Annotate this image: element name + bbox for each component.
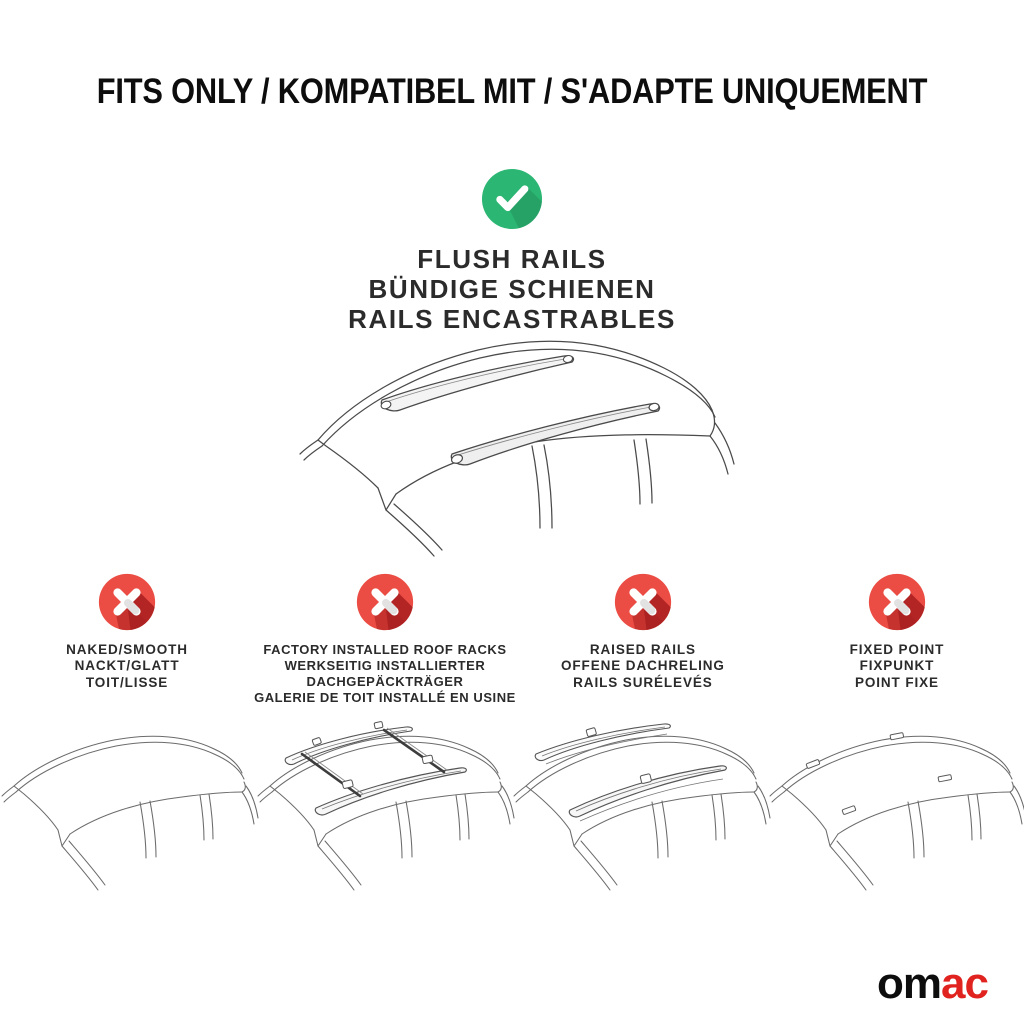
- roof-type-illustrations: [0, 724, 1024, 909]
- option-label-line-1: FIXED POINT: [850, 642, 945, 658]
- option-label-line-3: DACHGEPÄCKTRÄGER: [254, 674, 516, 690]
- cross-icon: [613, 572, 673, 632]
- compatible-label: FLUSH RAILS BÜNDIGE SCHIENEN RAILS ENCAS…: [0, 244, 1024, 334]
- cross-icon: [867, 572, 927, 632]
- option-label-line-1: NAKED/SMOOTH: [66, 642, 188, 658]
- logo-text-ac: ac: [941, 959, 988, 1008]
- option-label-line-2: OFFENE DACHRELING: [561, 658, 725, 674]
- option-naked-smooth: NAKED/SMOOTH NACKT/GLATT TOIT/LISSE: [0, 572, 254, 705]
- incompatible-options-grid: NAKED/SMOOTH NACKT/GLATT TOIT/LISSE: [0, 572, 1024, 705]
- option-label-line-3: RAILS SURÉLEVÉS: [561, 675, 725, 691]
- omac-logo: omac: [877, 962, 988, 1006]
- compatible-label-line-2: BÜNDIGE SCHIENEN: [0, 274, 1024, 304]
- option-label-line-3: TOIT/LISSE: [66, 675, 188, 691]
- option-label-line-3: POINT FIXE: [850, 675, 945, 691]
- option-label: RAISED RAILS OFFENE DACHRELING RAILS SUR…: [561, 642, 725, 691]
- option-label-line-4: GALERIE DE TOIT INSTALLÉ EN USINE: [254, 690, 516, 706]
- option-label-line-1: RAISED RAILS: [561, 642, 725, 658]
- compatible-label-line-1: FLUSH RAILS: [0, 244, 1024, 274]
- option-label: FACTORY INSTALLED ROOF RACKS WERKSEITIG …: [254, 642, 516, 705]
- cross-icon: [355, 572, 415, 632]
- car-roof-raised-rails-illustration: [512, 724, 768, 909]
- check-icon: [481, 168, 543, 230]
- page-title: FITS ONLY / KOMPATIBEL MIT / S'ADAPTE UN…: [61, 72, 962, 112]
- logo-text-om: om: [877, 959, 941, 1008]
- option-fixed-point: FIXED POINT FIXPUNKT POINT FIXE: [770, 572, 1024, 705]
- option-label: NAKED/SMOOTH NACKT/GLATT TOIT/LISSE: [66, 642, 188, 691]
- option-factory-roof-racks: FACTORY INSTALLED ROOF RACKS WERKSEITIG …: [254, 572, 516, 705]
- option-raised-rails: RAISED RAILS OFFENE DACHRELING RAILS SUR…: [516, 572, 770, 705]
- compatible-section: FLUSH RAILS BÜNDIGE SCHIENEN RAILS ENCAS…: [0, 168, 1024, 334]
- option-label-line-2: FIXPUNKT: [850, 658, 945, 674]
- fitment-guide-page: FITS ONLY / KOMPATIBEL MIT / S'ADAPTE UN…: [0, 0, 1024, 1024]
- car-roof-with-flush-rails-illustration: [0, 328, 1024, 558]
- option-label-line-2: WERKSEITIG INSTALLIERTER: [254, 658, 516, 674]
- car-roof-naked-smooth-illustration: [0, 724, 256, 909]
- car-roof-fixed-point-illustration: [768, 724, 1024, 909]
- cross-icon: [97, 572, 157, 632]
- option-label-line-1: FACTORY INSTALLED ROOF RACKS: [254, 642, 516, 658]
- car-roof-factory-roof-racks-illustration: [256, 724, 512, 909]
- option-label-line-2: NACKT/GLATT: [66, 658, 188, 674]
- option-label: FIXED POINT FIXPUNKT POINT FIXE: [850, 642, 945, 691]
